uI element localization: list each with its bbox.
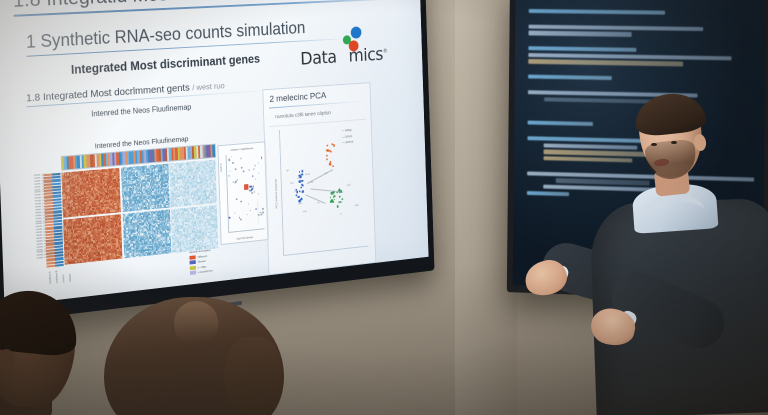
pca-tick-label: cor — [290, 181, 294, 185]
pca-point — [301, 180, 303, 183]
logo-trademark: ® — [383, 48, 388, 55]
pca-point — [301, 173, 303, 175]
pca-point — [327, 145, 329, 147]
pca-legend-entry: — ycoma — [342, 139, 367, 145]
scatter-point — [255, 179, 256, 180]
pca-point — [332, 201, 334, 204]
pca-tick-label: sp — [286, 168, 289, 172]
pca-point — [334, 199, 335, 201]
pca-tick-label: su? — [298, 201, 302, 205]
code-line — [528, 46, 636, 52]
pca-point — [301, 170, 303, 173]
pca-point — [336, 192, 338, 194]
pca-point — [298, 196, 300, 198]
scatter-point — [232, 162, 233, 164]
scatter-point — [246, 214, 247, 215]
pca-tick-label: ts — [318, 200, 320, 204]
scatter-point — [232, 181, 233, 182]
legend-swatch — [190, 260, 196, 264]
legend-label: Slowart — [198, 259, 206, 264]
legend-label: Tlj5wcnb — [197, 254, 207, 259]
pca-tick-label: stor — [355, 203, 359, 207]
scatter-point — [230, 171, 231, 172]
pca-tick-label: svp — [309, 180, 313, 184]
heatmap-block — [122, 209, 171, 258]
slide-surface: 1.8 Integratid Most discriminant genes H… — [0, 0, 429, 306]
pca-tick-label: cf — [295, 189, 297, 193]
pca-point — [326, 149, 328, 151]
scatter-point — [235, 212, 236, 213]
scatter-point — [253, 168, 254, 170]
pca-point — [333, 144, 335, 146]
logo-wordmark: DataOmics® — [300, 44, 388, 69]
scatter-point — [261, 158, 262, 160]
logo-dot-blue-icon — [351, 26, 362, 38]
scatter-point — [235, 168, 236, 170]
scatter-point — [254, 191, 255, 193]
scatter-point — [248, 204, 249, 205]
pca-point — [340, 201, 342, 203]
code-line — [528, 59, 683, 66]
wall-shadow — [0, 265, 768, 415]
pca-point — [301, 186, 303, 188]
heatmap-block — [171, 205, 219, 253]
scatter-point — [258, 214, 260, 216]
scatter-point — [262, 211, 263, 213]
scatter-point-highlight — [250, 186, 251, 188]
logo-text-left: Data — [300, 47, 337, 69]
scatter-point — [250, 210, 251, 211]
pca-point — [329, 163, 331, 166]
scatter-point — [258, 193, 259, 194]
pca-tick-label: 5 — [340, 212, 341, 216]
heatmap-block — [63, 214, 122, 265]
scatter-point — [258, 173, 259, 174]
pca-tick-label: xu? — [324, 171, 328, 175]
scatter-point — [235, 182, 237, 184]
heatmap-side-bars — [43, 173, 63, 269]
presentation-scene: 1.8 Integratid Most discriminant genes H… — [0, 0, 768, 415]
scatter-point — [228, 175, 229, 176]
pca-legend: — eawp;— tcmvd— ycoma — [342, 127, 367, 147]
scatter-point — [241, 158, 242, 159]
section-label-dim: / west ruo — [192, 81, 225, 93]
pca-point — [299, 176, 301, 178]
scatter-point — [255, 208, 256, 209]
pca-legend-entry: — eawp; — [342, 127, 367, 133]
pca-tick-label: xos — [303, 209, 307, 213]
heatmap-block — [61, 168, 120, 218]
scatter-point — [237, 179, 238, 181]
pca-subtitle: nunotuta c3l6 мnee cāptun — [275, 108, 370, 121]
logo-text-right: mics — [348, 44, 383, 66]
pca-tick-label: su? — [347, 183, 351, 187]
heatmap-block — [169, 160, 217, 208]
code-line — [528, 75, 612, 81]
code-line — [529, 9, 665, 15]
pca-point — [341, 198, 343, 200]
scatter-point — [236, 198, 237, 200]
heatmap-block — [121, 164, 170, 212]
mini-volcano-plot: volcano / significance log2 fold change … — [217, 141, 269, 245]
pca-point — [332, 165, 334, 167]
pca-legend-entry: — tcmvd — [342, 133, 367, 139]
annotation-cell — [212, 145, 214, 157]
pca-tick-label: uc — [332, 192, 335, 196]
pca-tick-label: l-our — [305, 172, 310, 176]
pca-figure: 2 melecinc PCA nunotuta c3l6 мnee cāptun… — [262, 82, 376, 275]
scatter-point — [254, 165, 255, 166]
pca-point — [330, 197, 331, 199]
scatter-point — [262, 208, 263, 209]
legend-swatch — [189, 255, 195, 259]
pca-point — [299, 171, 300, 173]
scatter-point — [243, 171, 244, 173]
scatter-point-highlight — [253, 185, 254, 187]
scatter-point — [231, 156, 232, 158]
scatter-highlight-box — [244, 184, 248, 190]
pca-point — [326, 158, 328, 160]
pca-point — [339, 196, 340, 198]
scatter-point — [251, 192, 253, 194]
scatter-point — [241, 167, 242, 169]
pca-loading-vector — [306, 194, 326, 203]
pca-point — [326, 155, 327, 157]
scatter-point — [260, 213, 262, 215]
scatter-point — [258, 162, 259, 163]
code-line — [529, 31, 632, 37]
pca-point — [337, 205, 339, 207]
dataomics-logo: DataOmics® — [299, 27, 389, 76]
heatmap-row-label: GENE_0113 — [37, 257, 46, 260]
scatter-point — [229, 217, 230, 219]
mini-volcano-axes — [226, 152, 265, 233]
scatter-point — [240, 200, 241, 202]
scatter-point — [240, 219, 242, 221]
mini-volcano-ylabel: -log10 p — [220, 163, 223, 172]
pca-ylabel: PC2 variance explained — [274, 179, 278, 209]
pca-point — [301, 198, 303, 200]
scatter-point — [252, 175, 254, 177]
